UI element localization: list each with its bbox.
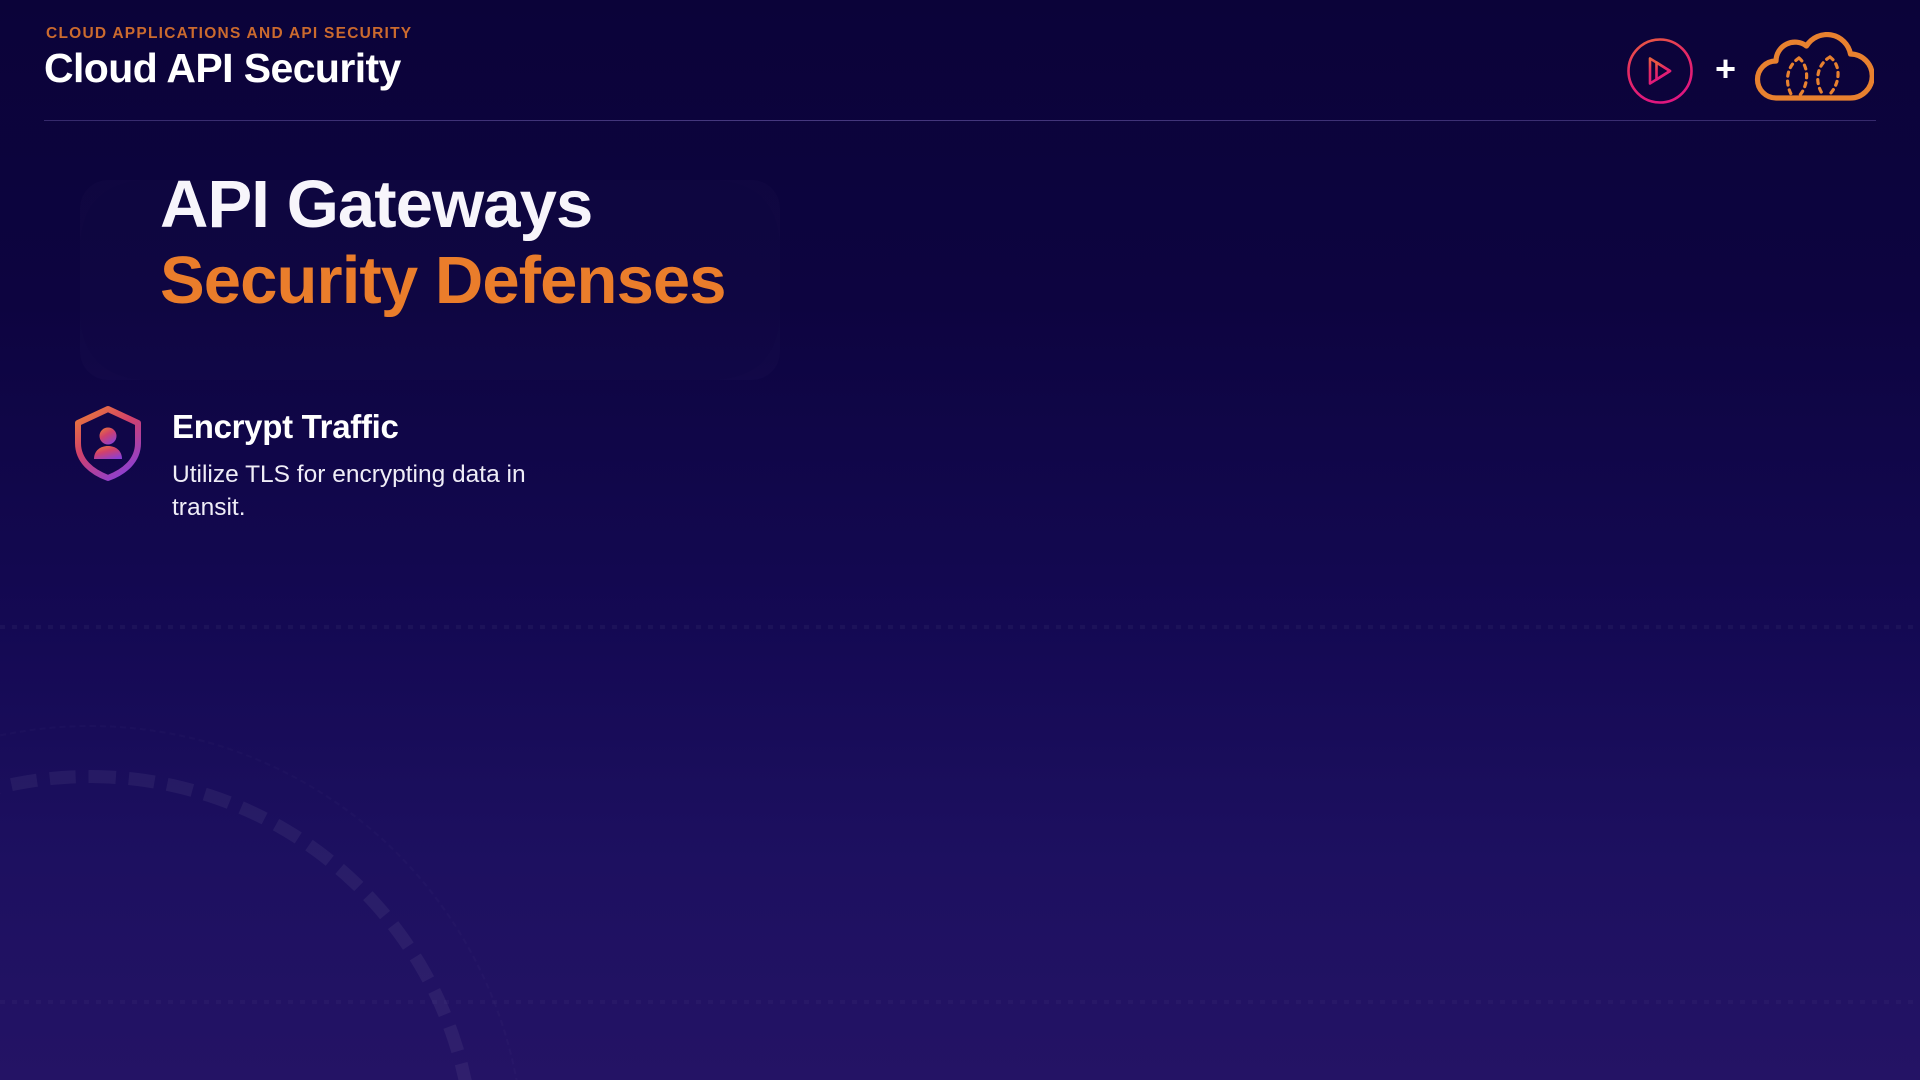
- point-description: Utilize TLS for encrypting data in trans…: [172, 459, 572, 524]
- headline-block: API Gateways Security Defenses: [0, 149, 1920, 318]
- plus-separator-icon: +: [1713, 51, 1738, 91]
- point-title: Encrypt Traffic: [172, 408, 572, 447]
- page-title: Cloud API Security: [44, 47, 412, 90]
- list-item: Encrypt Traffic Utilize TLS for encrypti…: [72, 404, 632, 524]
- shield-user-icon: [72, 404, 144, 482]
- cloud-outline-logo-icon: [1752, 32, 1874, 110]
- play-circle-logo-icon: [1621, 32, 1699, 110]
- eyebrow-label: CLOUD APPLICATIONS AND API SECURITY: [44, 26, 412, 42]
- slide-root: CLOUD APPLICATIONS AND API SECURITY Clou…: [0, 0, 1920, 1080]
- slide-header: CLOUD APPLICATIONS AND API SECURITY Clou…: [0, 0, 1920, 121]
- headline-line-1: API Gateways: [160, 167, 1920, 243]
- headline-line-2: Security Defenses: [160, 243, 1920, 319]
- brand-block: CLOUD APPLICATIONS AND API SECURITY Clou…: [44, 26, 412, 90]
- points-list: Encrypt Traffic Utilize TLS for encrypti…: [0, 404, 1920, 524]
- point-body: Encrypt Traffic Utilize TLS for encrypti…: [172, 404, 572, 524]
- logo-lockup: +: [1621, 32, 1874, 110]
- slide-main: API Gateways Security Defenses: [0, 121, 1920, 1080]
